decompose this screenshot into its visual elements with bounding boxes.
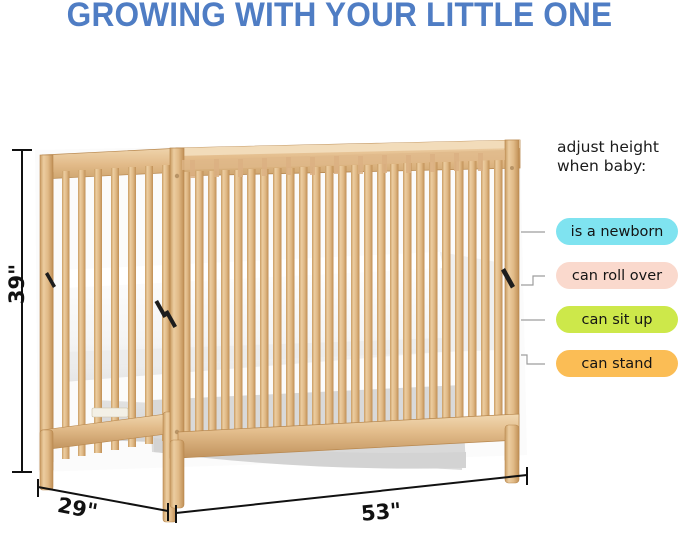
milestone-pill-label: can roll over [572, 268, 662, 284]
milestone-pill-newborn[interactable]: is a newborn [556, 218, 678, 245]
milestone-pill-roll-over[interactable]: can roll over [556, 262, 678, 289]
illustration-canvas: GROWING WITH YOUR LITTLE ONE [0, 0, 679, 535]
adjust-height-line-2: when baby: [557, 157, 679, 176]
dimension-line-width [176, 475, 527, 513]
milestone-pill-stand[interactable]: can stand [556, 350, 678, 377]
milestone-pill-label: can stand [581, 356, 652, 372]
dimension-label-height: 39" [5, 261, 29, 307]
milestone-pill-sit-up[interactable]: can sit up [556, 306, 678, 333]
callout-connectors [521, 232, 545, 364]
adjust-height-heading: adjust height when baby: [557, 138, 679, 176]
adjust-height-line-1: adjust height [557, 138, 679, 157]
dimension-label-width: 53" [360, 498, 402, 526]
milestone-pill-label: can sit up [582, 312, 653, 328]
milestone-pill-label: is a newborn [571, 224, 664, 240]
